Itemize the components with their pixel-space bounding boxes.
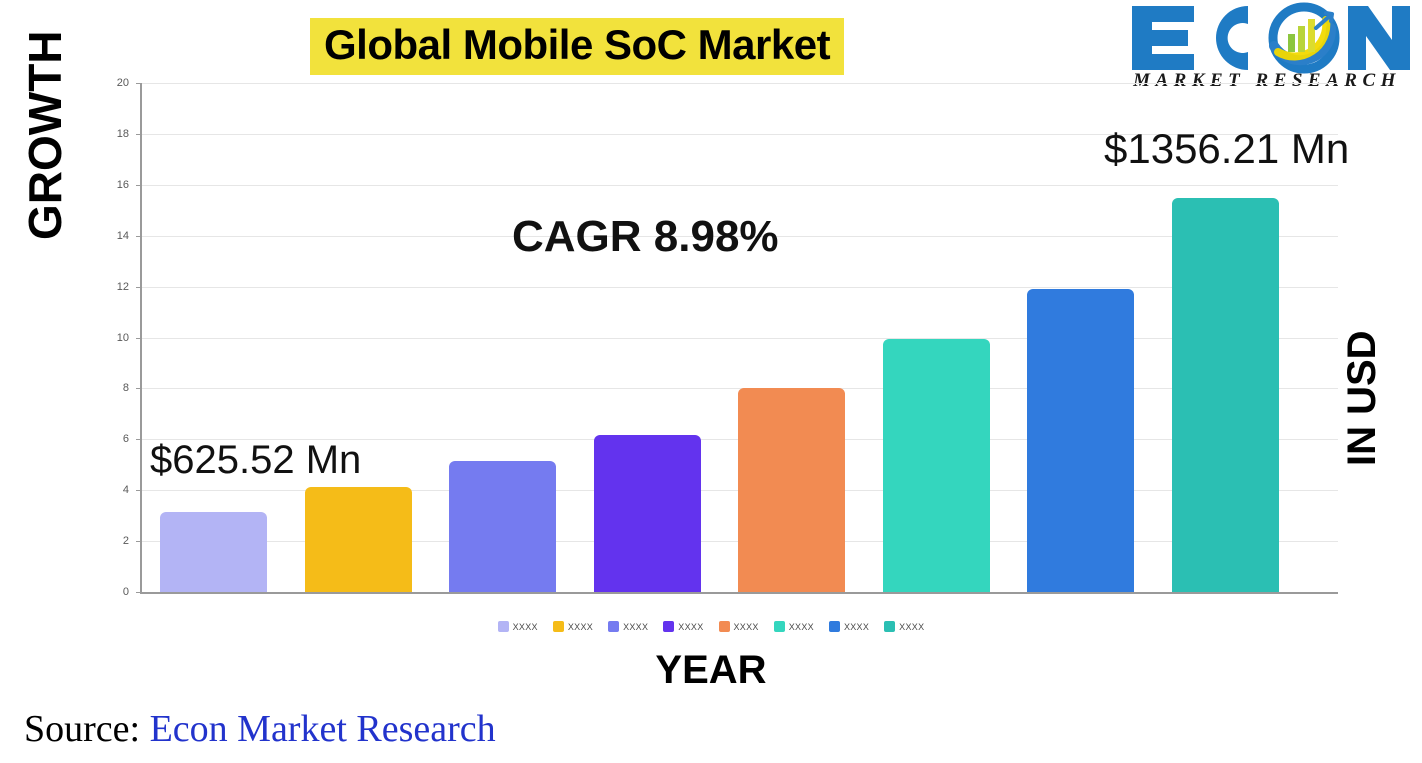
y-axis-tick-mark <box>136 83 142 84</box>
legend-item-label: XXXX <box>899 622 924 632</box>
start-value-annotation: $625.52 Mn <box>150 438 361 483</box>
source-line: Source: Econ Market Research <box>24 707 496 751</box>
legend-item[interactable]: XXXX <box>553 621 593 632</box>
legend-item[interactable]: XXXX <box>829 621 869 632</box>
y-axis-tick-mark <box>136 592 142 593</box>
gridline <box>142 287 1338 288</box>
econ-market-research-logo: MARKET RESEARCH <box>1126 2 1414 94</box>
y-axis-tick-label: 0 <box>89 586 129 598</box>
econ-wordmark-icon <box>1126 2 1414 74</box>
gridline <box>142 185 1338 186</box>
legend-item[interactable]: XXXX <box>498 621 538 632</box>
y-axis-tick-mark <box>136 185 142 186</box>
gridline <box>142 338 1338 339</box>
legend-swatch-icon <box>608 621 619 632</box>
y-axis-tick-mark <box>136 541 142 542</box>
legend-item-label: XXXX <box>789 622 814 632</box>
legend-swatch-icon <box>719 621 730 632</box>
chart-legend: XXXXXXXXXXXXXXXXXXXXXXXXXXXXXXXX <box>0 621 1422 632</box>
y-axis-tick-label: 14 <box>89 230 129 242</box>
y-axis-tick-label: 20 <box>89 77 129 89</box>
y-axis-tick-mark <box>136 287 142 288</box>
legend-item-label: XXXX <box>844 622 869 632</box>
y-axis-tick-label: 10 <box>89 332 129 344</box>
legend-swatch-icon <box>498 621 509 632</box>
legend-swatch-icon <box>663 621 674 632</box>
legend-item[interactable]: XXXX <box>774 621 814 632</box>
y-axis-tick-label: 16 <box>89 179 129 191</box>
source-link[interactable]: Econ Market Research <box>150 708 496 750</box>
bar[interactable] <box>1172 198 1279 592</box>
legend-item[interactable]: XXXX <box>663 621 703 632</box>
gridline <box>142 83 1338 84</box>
end-value-annotation: $1356.21 Mn <box>1104 125 1349 173</box>
y-axis-tick-mark <box>136 134 142 135</box>
y-axis-tick-mark <box>136 236 142 237</box>
cagr-annotation: CAGR 8.98% <box>512 212 779 262</box>
y-axis-tick-label: 4 <box>89 484 129 496</box>
legend-item[interactable]: XXXX <box>884 621 924 632</box>
bar[interactable] <box>449 461 556 592</box>
y-axis-tick-mark <box>136 439 142 440</box>
legend-swatch-icon <box>553 621 564 632</box>
legend-item[interactable]: XXXX <box>608 621 648 632</box>
secondary-y-axis-title: IN USD <box>1340 330 1385 466</box>
bar[interactable] <box>594 435 701 592</box>
legend-item-label: XXXX <box>678 622 703 632</box>
legend-swatch-icon <box>884 621 895 632</box>
bar[interactable] <box>738 388 845 592</box>
bar[interactable] <box>883 339 990 592</box>
y-axis-tick-mark <box>136 388 142 389</box>
y-axis-tick-mark <box>136 490 142 491</box>
bar[interactable] <box>305 487 412 592</box>
y-axis-title: GROWTH <box>18 30 72 240</box>
y-axis-tick-label: 6 <box>89 433 129 445</box>
x-axis-title: YEAR <box>0 648 1422 693</box>
bar[interactable] <box>1027 289 1134 592</box>
legend-item[interactable]: XXXX <box>719 621 759 632</box>
legend-swatch-icon <box>774 621 785 632</box>
y-axis-tick-label: 8 <box>89 382 129 394</box>
y-axis-tick-label: 2 <box>89 535 129 547</box>
page-title: Global Mobile SoC Market <box>310 18 844 75</box>
legend-swatch-icon <box>829 621 840 632</box>
y-axis-tick-label: 12 <box>89 281 129 293</box>
legend-item-label: XXXX <box>513 622 538 632</box>
source-prefix: Source: <box>24 708 150 750</box>
legend-item-label: XXXX <box>734 622 759 632</box>
y-axis-tick-mark <box>136 338 142 339</box>
y-axis-tick-label: 18 <box>89 128 129 140</box>
legend-item-label: XXXX <box>623 622 648 632</box>
legend-item-label: XXXX <box>568 622 593 632</box>
bar[interactable] <box>160 512 267 592</box>
